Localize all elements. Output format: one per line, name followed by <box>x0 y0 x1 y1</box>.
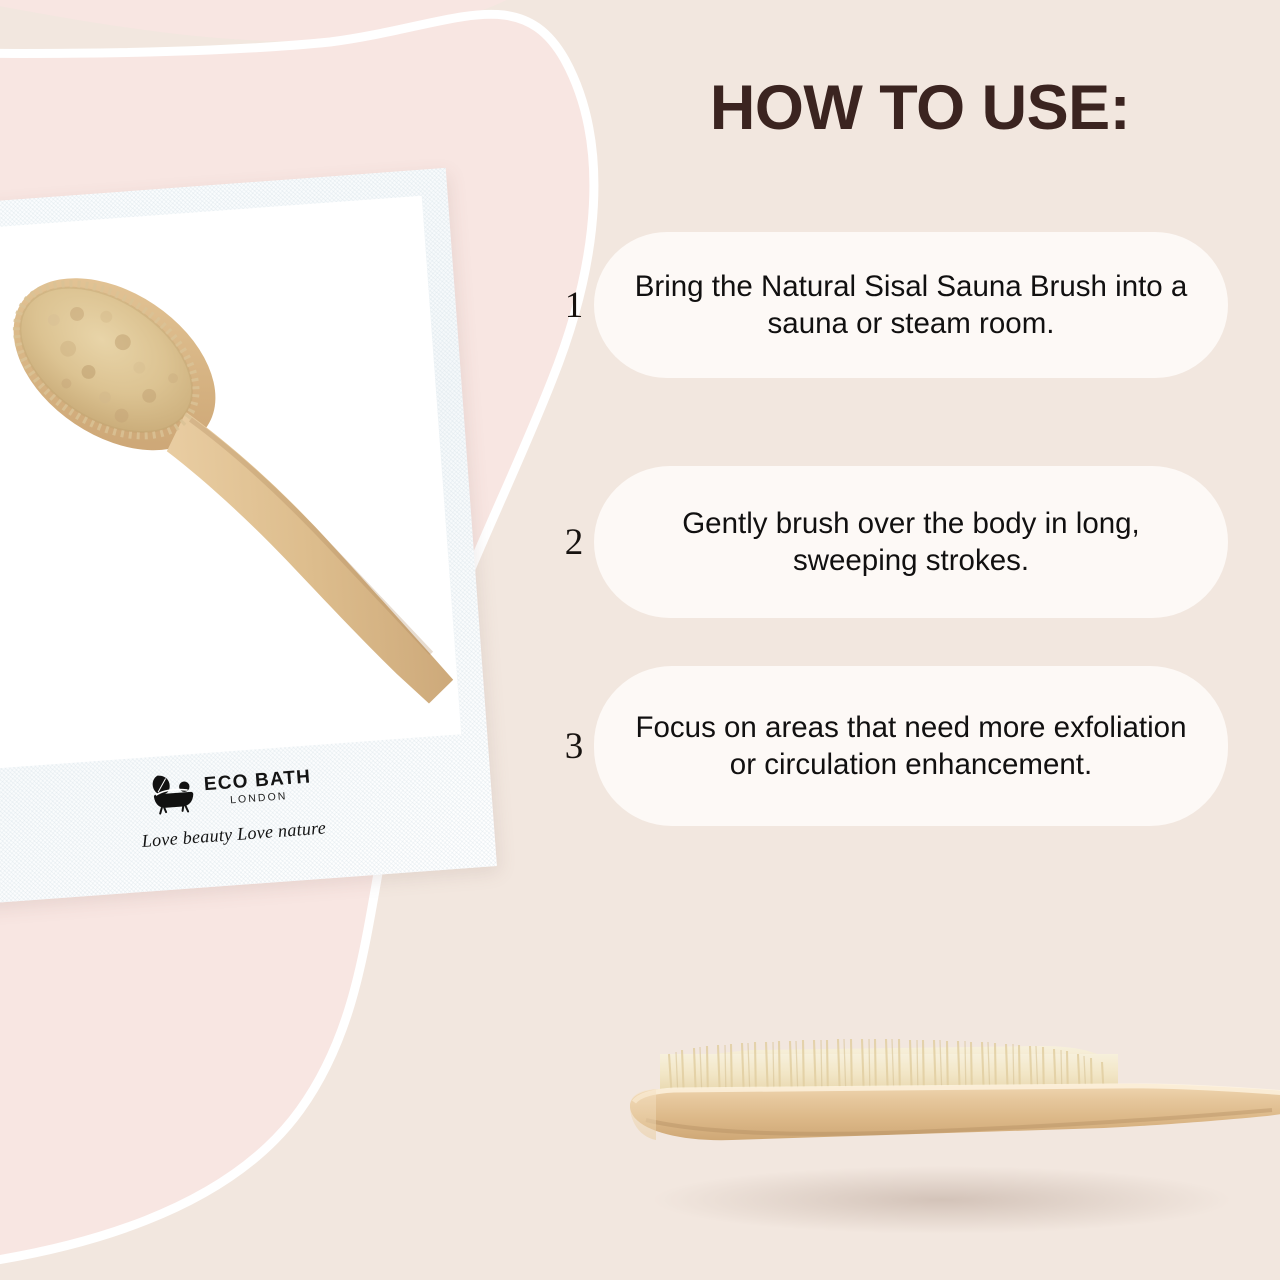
step-card: Focus on areas that need more exfoliatio… <box>594 666 1228 826</box>
step-number: 3 <box>548 728 600 765</box>
brand-name: ECO BATH <box>203 767 312 794</box>
brand-wordmark: ECO BATH LONDON <box>203 767 313 807</box>
body-brush-top-view-illustration <box>0 196 461 769</box>
list-item: 3 Focus on areas that need more exfoliat… <box>548 666 1228 826</box>
step-card: Gently brush over the body in long, swee… <box>594 466 1228 618</box>
step-number: 1 <box>548 287 600 324</box>
list-item: 2 Gently brush over the body in long, sw… <box>548 466 1228 618</box>
step-number: 2 <box>548 524 600 561</box>
list-item: 1 Bring the Natural Sisal Sauna Brush in… <box>548 232 1228 378</box>
step-card: Bring the Natural Sisal Sauna Brush into… <box>594 232 1228 378</box>
page-title: HOW TO USE: <box>600 72 1240 144</box>
polaroid-card: ECO BATH LONDON Love beauty Love nature <box>0 168 497 904</box>
steps-list: 1 Bring the Natural Sisal Sauna Brush in… <box>548 232 1228 826</box>
step-text: Focus on areas that need more exfoliatio… <box>628 709 1194 783</box>
product-shadow <box>652 1166 1232 1234</box>
brand-logo: ECO BATH LONDON <box>148 761 313 817</box>
bathtub-leaf-icon <box>148 770 197 817</box>
wooden-base <box>630 1084 1280 1140</box>
polaroid-photo <box>0 196 461 769</box>
brand-location: LONDON <box>230 791 288 806</box>
product-photo-brush-side-view <box>612 950 1280 1280</box>
brand-tagline: Love beauty Love nature <box>141 817 327 851</box>
step-text: Bring the Natural Sisal Sauna Brush into… <box>628 268 1194 342</box>
infographic-canvas: ECO BATH LONDON Love beauty Love nature … <box>0 0 1280 1280</box>
step-text: Gently brush over the body in long, swee… <box>628 505 1194 579</box>
